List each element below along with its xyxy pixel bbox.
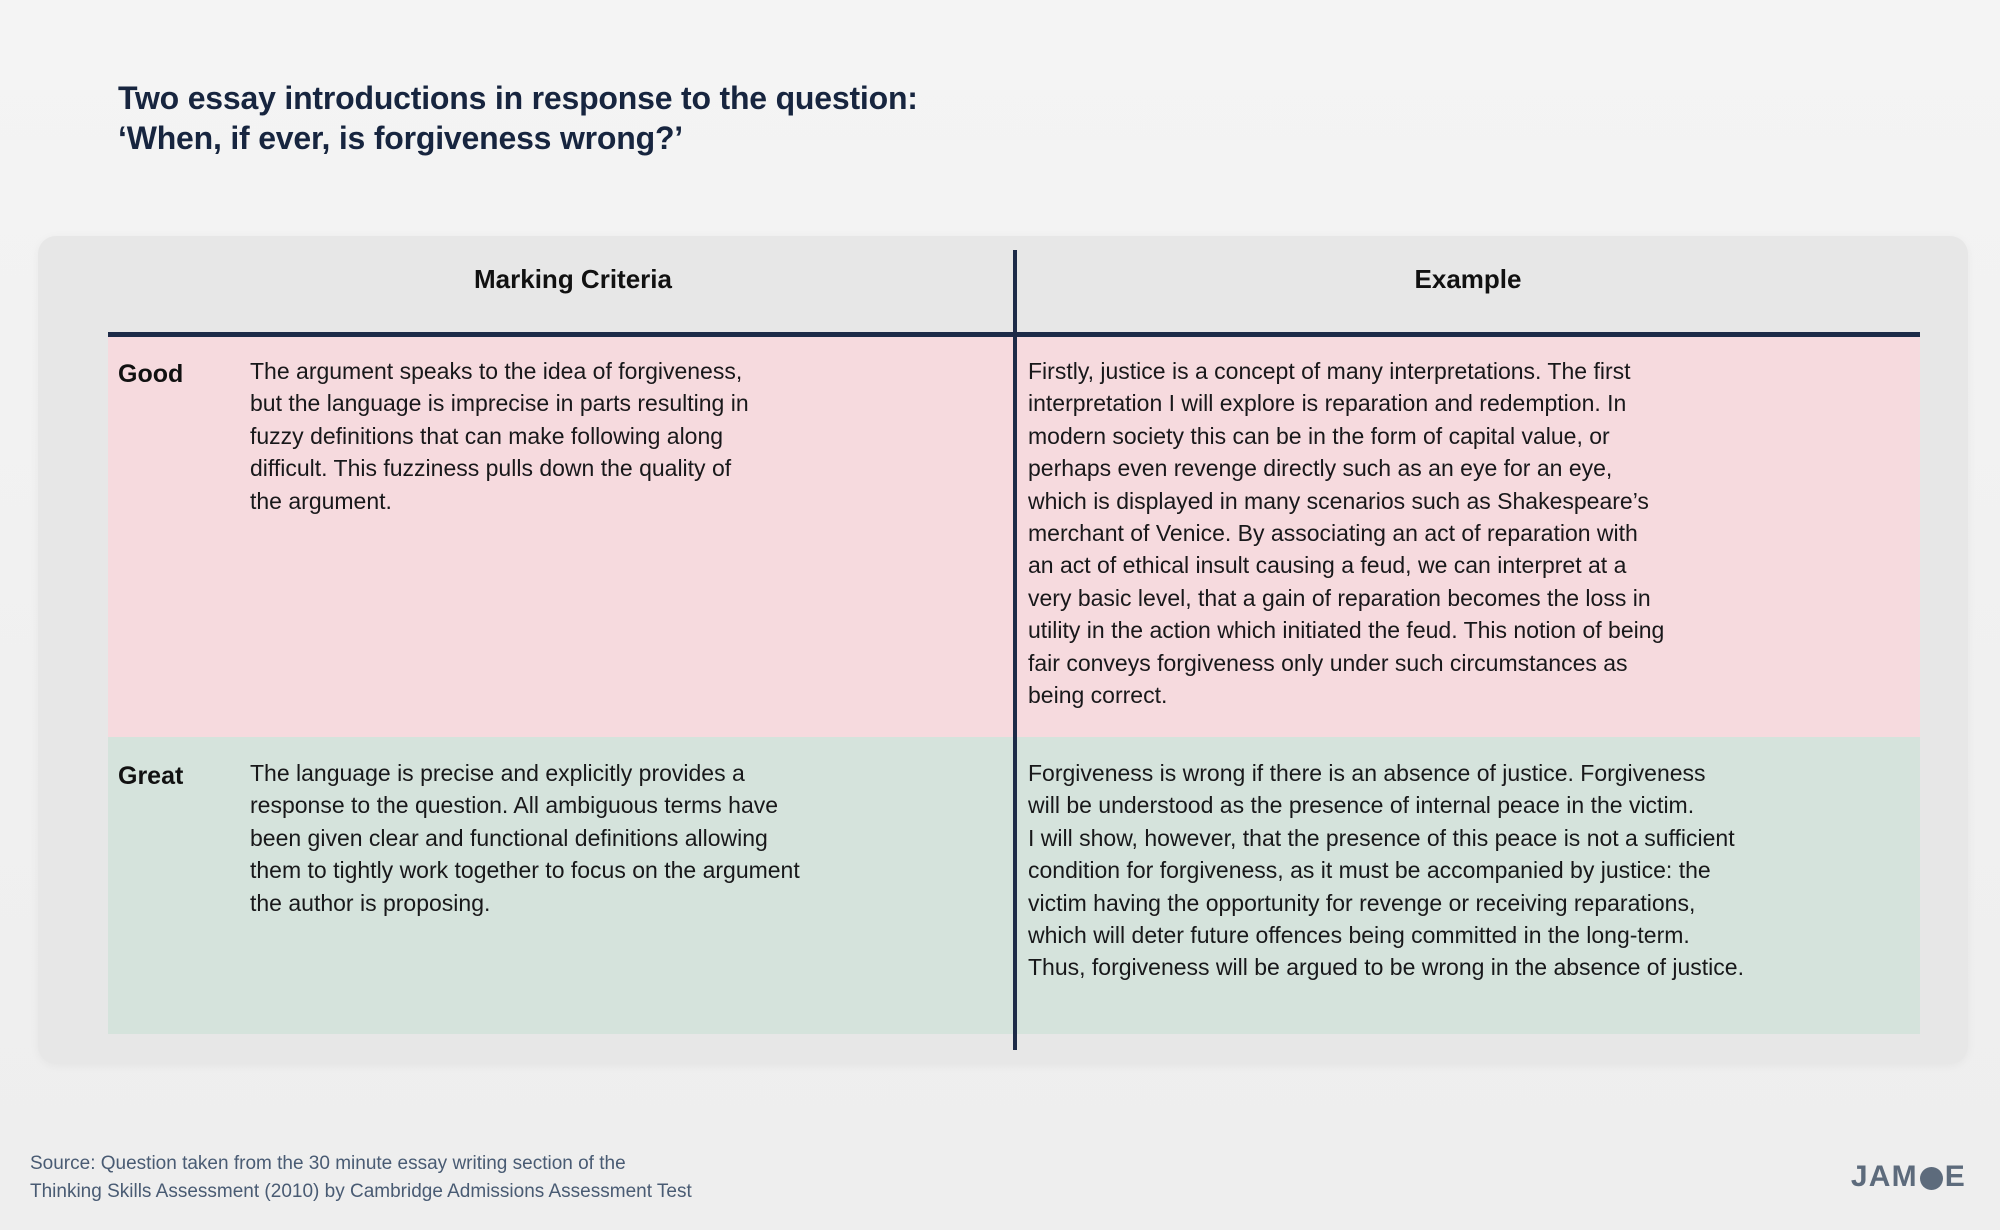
logo-text-part-1: JAM: [1851, 1160, 1918, 1194]
logo-text-part-2: E: [1945, 1160, 1966, 1194]
example-text-good: Firstly, justice is a concept of many in…: [1028, 355, 1888, 711]
criteria-text-good: The argument speaks to the idea of forgi…: [250, 355, 950, 517]
source-attribution: Source: Question taken from the 30 minut…: [30, 1150, 692, 1206]
table-header-row: Marking Criteria Example: [38, 236, 1968, 338]
row-label-great: Great: [118, 762, 183, 791]
jamoe-logo: JAM E: [1851, 1160, 1966, 1194]
example-text-great: Forgiveness is wrong if there is an abse…: [1028, 757, 1928, 984]
page-title: Two essay introductions in response to t…: [118, 78, 1418, 159]
column-header-marking-criteria: Marking Criteria: [108, 264, 1038, 295]
title-line-1: Two essay introductions in response to t…: [118, 78, 1418, 118]
row-label-good: Good: [118, 360, 183, 389]
column-divider-rule: [1013, 250, 1017, 1050]
criteria-text-great: The language is precise and explicitly p…: [250, 757, 950, 919]
logo-circle-icon: [1920, 1167, 1943, 1190]
title-line-2: ‘When, if ever, is forgiveness wrong?’: [118, 118, 1418, 158]
column-header-example: Example: [1038, 264, 1898, 295]
poster-page: Two essay introductions in response to t…: [0, 0, 2000, 1230]
